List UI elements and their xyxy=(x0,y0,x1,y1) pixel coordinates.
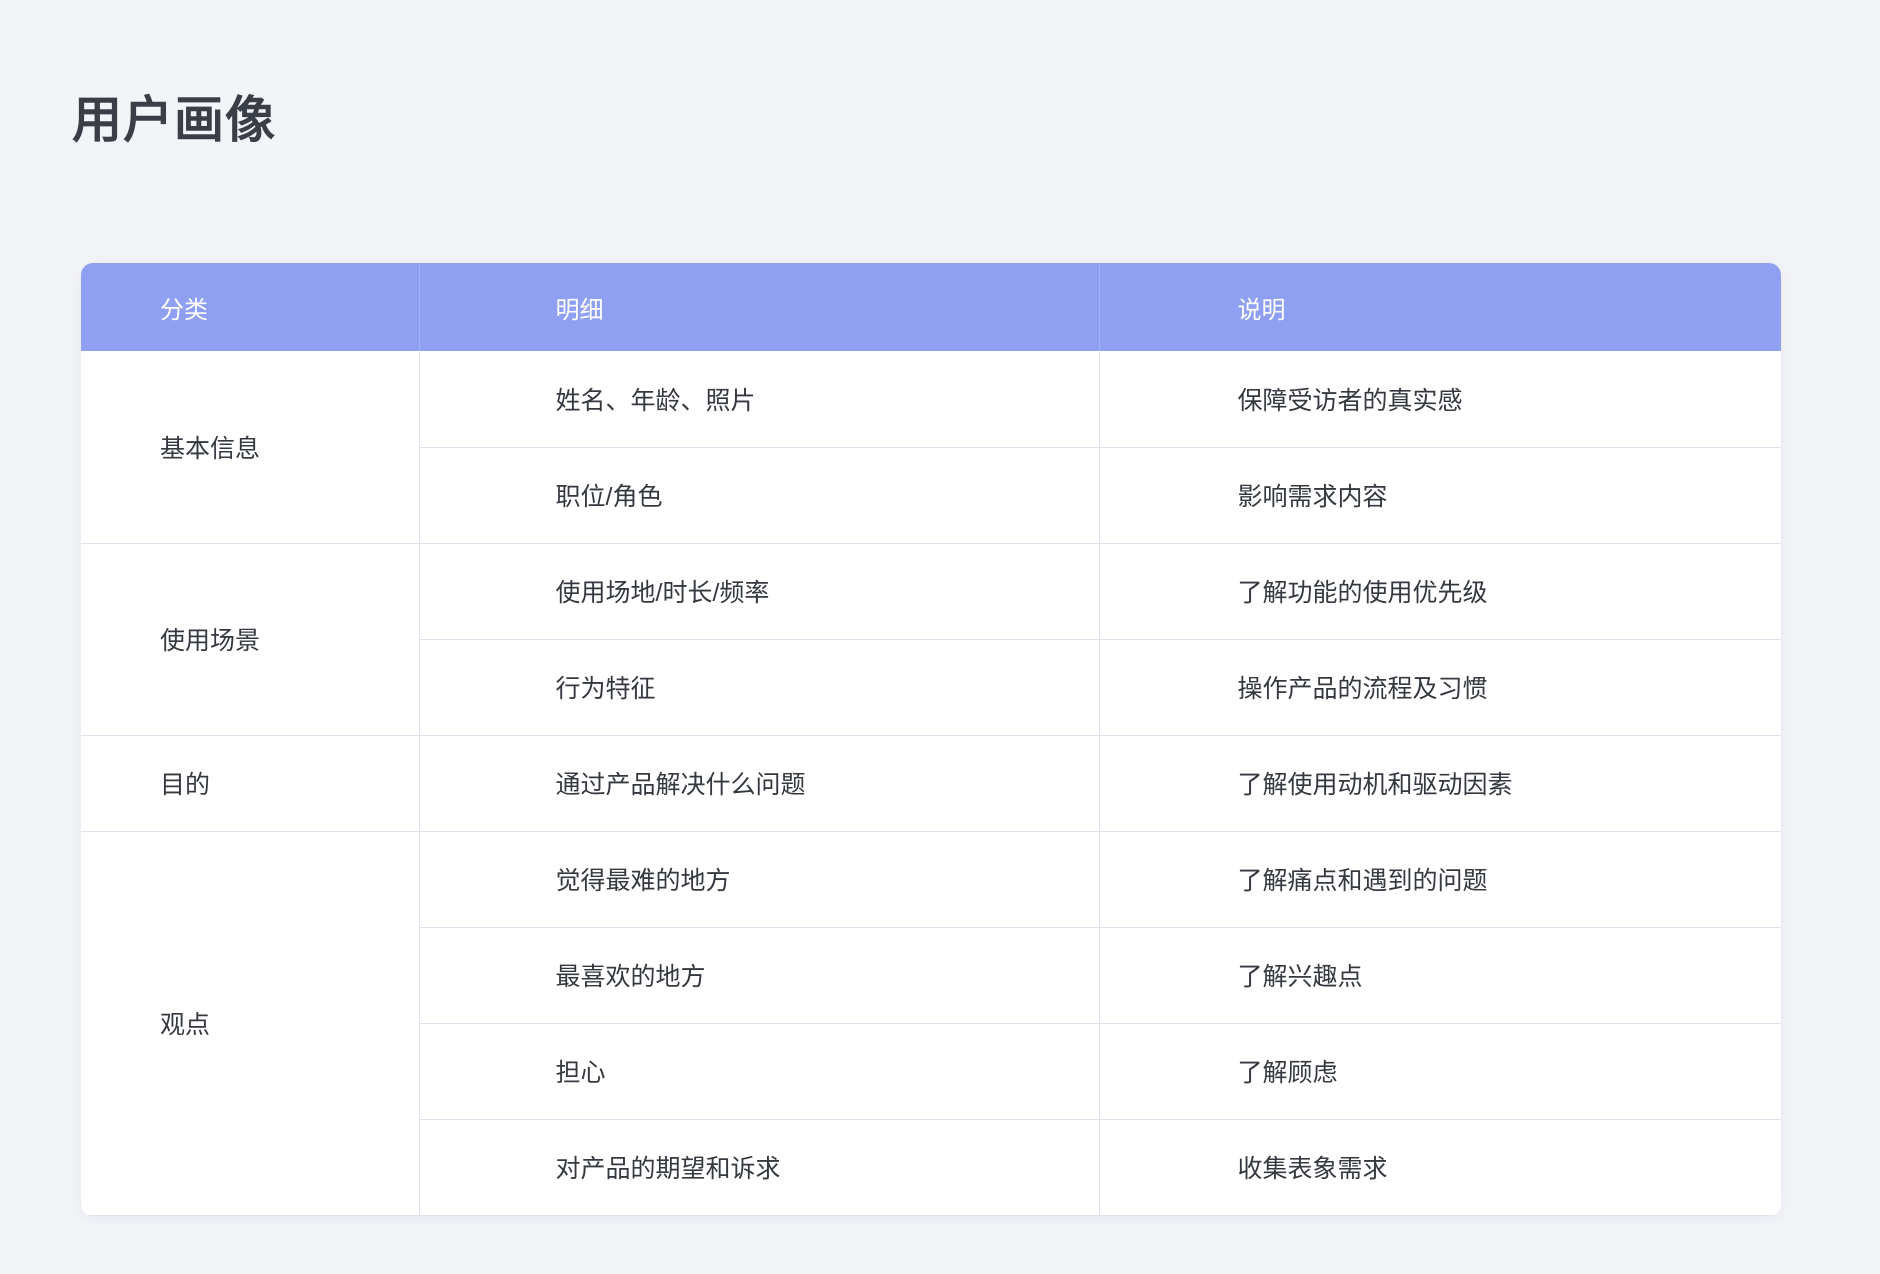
cell-category-label: 使用场景 xyxy=(81,621,419,657)
cell-description: 了解兴趣点 xyxy=(1099,927,1781,1023)
cell-detail: 对产品的期望和诉求 xyxy=(419,1119,1099,1215)
cell-detail: 通过产品解决什么问题 xyxy=(419,735,1099,831)
cell-detail-label: 行为特征 xyxy=(420,669,1099,705)
cell-detail-label: 职位/角色 xyxy=(420,477,1099,513)
cell-detail: 姓名、年龄、照片 xyxy=(419,351,1099,447)
persona-table: 分类 明细 说明 基本信息姓名、年龄、照片保障受访者的真实感职位/角色影响需求内… xyxy=(81,263,1781,1216)
cell-detail-label: 担心 xyxy=(420,1053,1099,1089)
cell-detail-label: 对产品的期望和诉求 xyxy=(420,1149,1099,1185)
page-title: 用户画像 xyxy=(72,92,276,150)
cell-description-label: 收集表象需求 xyxy=(1100,1149,1782,1185)
table-row: 使用场景使用场地/时长/频率了解功能的使用优先级 xyxy=(81,543,1781,639)
table-header-row: 分类 明细 说明 xyxy=(81,263,1781,351)
cell-detail: 担心 xyxy=(419,1023,1099,1119)
column-header-category-label: 分类 xyxy=(81,290,419,325)
cell-description-label: 保障受访者的真实感 xyxy=(1100,381,1782,417)
cell-description-label: 操作产品的流程及习惯 xyxy=(1100,669,1782,705)
cell-category-label: 目的 xyxy=(81,765,419,801)
cell-description: 了解痛点和遇到的问题 xyxy=(1099,831,1781,927)
cell-description-label: 了解功能的使用优先级 xyxy=(1100,573,1782,609)
column-header-description-label: 说明 xyxy=(1100,290,1782,325)
cell-category: 使用场景 xyxy=(81,543,419,735)
column-header-description: 说明 xyxy=(1099,263,1781,351)
column-header-category: 分类 xyxy=(81,263,419,351)
cell-detail-label: 觉得最难的地方 xyxy=(420,861,1099,897)
cell-description-label: 影响需求内容 xyxy=(1100,477,1782,513)
cell-category: 基本信息 xyxy=(81,351,419,543)
table-body: 基本信息姓名、年龄、照片保障受访者的真实感职位/角色影响需求内容使用场景使用场地… xyxy=(81,351,1781,1215)
table-row: 基本信息姓名、年龄、照片保障受访者的真实感 xyxy=(81,351,1781,447)
cell-detail: 最喜欢的地方 xyxy=(419,927,1099,1023)
cell-description: 收集表象需求 xyxy=(1099,1119,1781,1215)
cell-category: 目的 xyxy=(81,735,419,831)
cell-detail-label: 通过产品解决什么问题 xyxy=(420,765,1099,801)
page-root: 用户画像 分类 明细 说明 xyxy=(0,0,1880,1274)
cell-description: 影响需求内容 xyxy=(1099,447,1781,543)
cell-description-label: 了解顾虑 xyxy=(1100,1053,1782,1089)
cell-category-label: 基本信息 xyxy=(81,429,419,465)
cell-description-label: 了解痛点和遇到的问题 xyxy=(1100,861,1782,897)
persona-table-card: 分类 明细 说明 基本信息姓名、年龄、照片保障受访者的真实感职位/角色影响需求内… xyxy=(81,263,1781,1216)
cell-detail: 使用场地/时长/频率 xyxy=(419,543,1099,639)
cell-description: 了解功能的使用优先级 xyxy=(1099,543,1781,639)
cell-description: 操作产品的流程及习惯 xyxy=(1099,639,1781,735)
cell-detail-label: 使用场地/时长/频率 xyxy=(420,573,1099,609)
cell-detail-label: 姓名、年龄、照片 xyxy=(420,381,1099,417)
cell-detail: 行为特征 xyxy=(419,639,1099,735)
cell-detail: 职位/角色 xyxy=(419,447,1099,543)
cell-description: 了解顾虑 xyxy=(1099,1023,1781,1119)
table-header: 分类 明细 说明 xyxy=(81,263,1781,351)
cell-description: 了解使用动机和驱动因素 xyxy=(1099,735,1781,831)
cell-category: 观点 xyxy=(81,831,419,1215)
cell-detail-label: 最喜欢的地方 xyxy=(420,957,1099,993)
cell-category-label: 观点 xyxy=(81,1005,419,1041)
column-header-detail-label: 明细 xyxy=(420,290,1099,325)
cell-description-label: 了解兴趣点 xyxy=(1100,957,1782,993)
cell-description-label: 了解使用动机和驱动因素 xyxy=(1100,765,1782,801)
table-row: 目的通过产品解决什么问题了解使用动机和驱动因素 xyxy=(81,735,1781,831)
cell-detail: 觉得最难的地方 xyxy=(419,831,1099,927)
cell-description: 保障受访者的真实感 xyxy=(1099,351,1781,447)
column-header-detail: 明细 xyxy=(419,263,1099,351)
table-row: 观点觉得最难的地方了解痛点和遇到的问题 xyxy=(81,831,1781,927)
